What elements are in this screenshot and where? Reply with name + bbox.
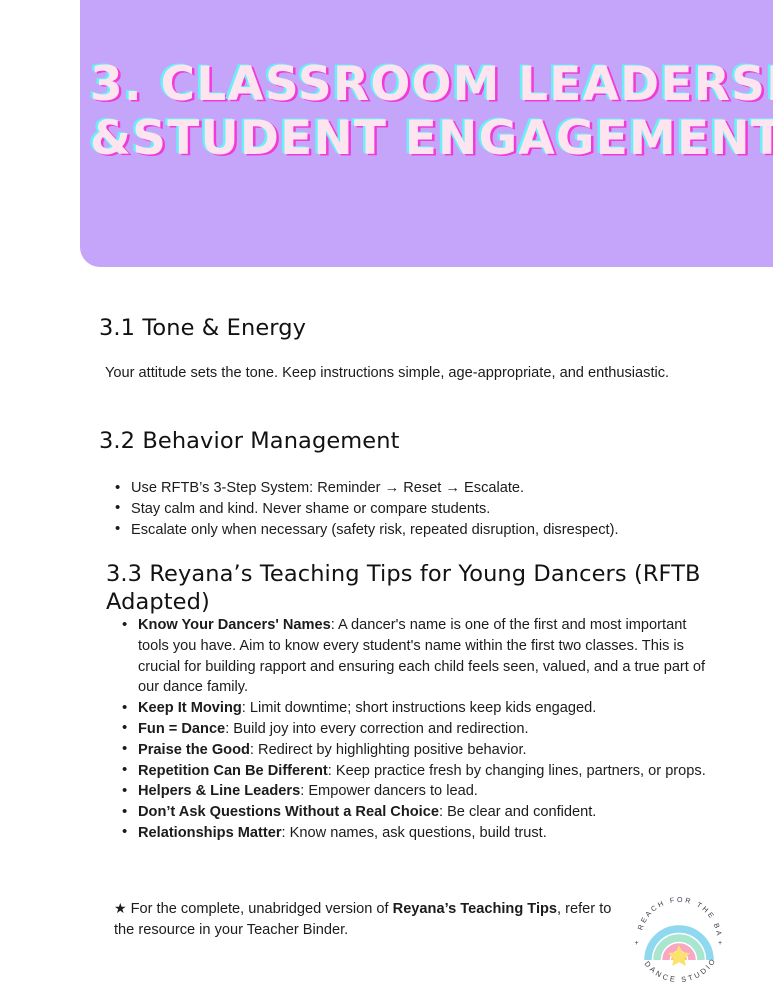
- list-item-text: : Redirect by highlighting positive beha…: [250, 742, 527, 758]
- section-3-3-tips-list: Know Your Dancers' Names: A dancer's nam…: [120, 615, 712, 844]
- list-item-text: : Keep practice fresh by changing lines,…: [328, 763, 706, 779]
- section-3-1-heading: 3.1 Tone & Energy: [99, 314, 306, 342]
- list-item-term: Keep It Moving: [138, 700, 242, 716]
- list-item-text: : Limit downtime; short instructions kee…: [242, 700, 596, 716]
- section-banner: 3. CLASSROOM LEADERSHiP &STUDENT ENGAGEM…: [80, 0, 773, 267]
- list-item: Helpers & Line Leaders: Empower dancers …: [120, 781, 712, 802]
- page-root: 3. CLASSROOM LEADERSHiP &STUDENT ENGAGEM…: [0, 0, 773, 1000]
- list-item-text: : Empower dancers to lead.: [300, 783, 478, 799]
- page-title-line-1: 3. CLASSROOM LEADERSHiP: [90, 58, 765, 112]
- list-item: Praise the Good: Redirect by highlightin…: [120, 740, 712, 761]
- list-item: Fun = Dance: Build joy into every correc…: [120, 719, 712, 740]
- footer-note: ★ For the complete, unabridged version o…: [114, 898, 612, 941]
- rainbow-logo-icon: REACH FOR THE BARRES DANCE STUDIO + +: [627, 888, 731, 992]
- list-item: Don’t Ask Questions Without a Real Choic…: [120, 802, 712, 823]
- section-3-2-heading: 3.2 Behavior Management: [99, 427, 400, 455]
- section-3-1-body: Your attitude sets the tone. Keep instru…: [105, 363, 675, 384]
- list-item: Escalate only when necessary (safety ris…: [113, 520, 733, 541]
- list-item-text: : Know names, ask questions, build trust…: [282, 825, 547, 841]
- list-item-text: : Be clear and confident.: [439, 804, 596, 820]
- list-item-term: Fun = Dance: [138, 721, 225, 737]
- list-item: Know Your Dancers' Names: A dancer's nam…: [120, 615, 712, 698]
- page-title-line-2: &STUDENT ENGAGEMENT: [90, 112, 765, 166]
- footer-note-text-before: For the complete, unabridged version of: [127, 901, 393, 917]
- list-item: Keep It Moving: Limit downtime; short in…: [120, 698, 712, 719]
- list-item-term: Relationships Matter: [138, 825, 282, 841]
- list-item-term: Helpers & Line Leaders: [138, 783, 300, 799]
- footer-note-emphasis: Reyana’s Teaching Tips: [393, 901, 557, 917]
- page-title: 3. CLASSROOM LEADERSHiP &STUDENT ENGAGEM…: [90, 58, 765, 166]
- sparkle-left-icon: +: [635, 940, 639, 947]
- list-item: Stay calm and kind. Never shame or compa…: [113, 499, 733, 520]
- list-item-text: : Build joy into every correction and re…: [225, 721, 528, 737]
- list-item-term: Know Your Dancers' Names: [138, 617, 331, 633]
- section-3-2-bullet-list: Use RFTB’s 3-Step System: Reminder → Res…: [113, 478, 733, 540]
- list-item: Repetition Can Be Different: Keep practi…: [120, 761, 712, 782]
- list-item: Use RFTB’s 3-Step System: Reminder → Res…: [113, 478, 733, 499]
- list-item-term: Don’t Ask Questions Without a Real Choic…: [138, 804, 439, 820]
- list-item-term: Praise the Good: [138, 742, 250, 758]
- section-3-3-heading: 3.3 Reyana’s Teaching Tips for Young Dan…: [106, 560, 773, 616]
- sparkle-right-icon: +: [718, 940, 722, 947]
- star-icon: ★: [114, 900, 127, 916]
- list-item: Relationships Matter: Know names, ask qu…: [120, 823, 712, 844]
- list-item-term: Repetition Can Be Different: [138, 763, 328, 779]
- studio-logo: REACH FOR THE BARRES DANCE STUDIO + +: [627, 888, 731, 992]
